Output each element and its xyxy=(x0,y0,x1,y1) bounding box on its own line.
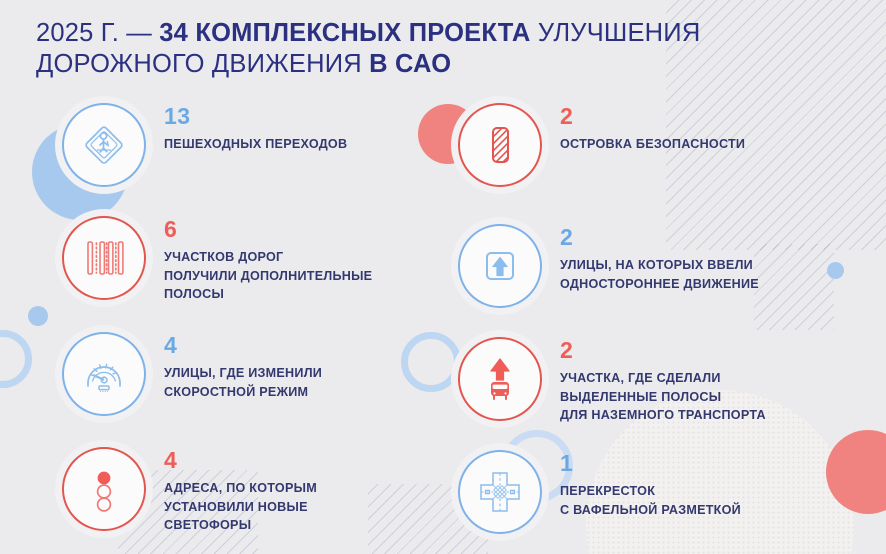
stat-item-safety-islands: 2 ОСТРОВКА БЕЗОПАСНОСТИ xyxy=(458,103,745,187)
stat-caption: ПЕШЕХОДНЫХ ПЕРЕХОДОВ xyxy=(164,135,347,154)
stat-caption: УЛИЦЫ, НА КОТОРЫХ ВВЕЛИ ОДНОСТОРОННЕЕ ДВ… xyxy=(560,256,759,293)
icon-badge-waffle-intersection xyxy=(458,450,542,534)
icon-badge-pedestrian-crossing xyxy=(62,103,146,187)
title-line1-suffix: УЛУЧШЕНИЯ xyxy=(531,19,701,47)
stat-text-safety-islands: 2 ОСТРОВКА БЕЗОПАСНОСТИ xyxy=(560,103,745,154)
stat-text-dedicated-bus-lanes: 2 УЧАСТКА, ГДЕ СДЕЛАЛИ ВЫДЕЛЕННЫЕ ПОЛОСЫ… xyxy=(560,337,766,425)
stat-text-waffle-marking-intersection: 1 ПЕРЕКРЕСТОК С ВАФЕЛЬНОЙ РАЗМЕТКОЙ xyxy=(560,450,741,519)
stat-item-speed-limit-changes: 4 УЛИЦЫ, ГДЕ ИЗМЕНИЛИ СКОРОСТНОЙ РЕЖИМ xyxy=(62,332,322,416)
icon-badge-bus-lane xyxy=(458,337,542,421)
stat-number: 13 xyxy=(164,105,347,128)
stat-item-pedestrian-crossings: 13 ПЕШЕХОДНЫХ ПЕРЕХОДОВ xyxy=(62,103,347,187)
pedestrian-crossing-sign-icon xyxy=(78,119,130,171)
stat-item-dedicated-bus-lanes: 2 УЧАСТКА, ГДЕ СДЕЛАЛИ ВЫДЕЛЕННЫЕ ПОЛОСЫ… xyxy=(458,337,766,425)
stat-caption: ОСТРОВКА БЕЗОПАСНОСТИ xyxy=(560,135,745,154)
stat-text-one-way-streets: 2 УЛИЦЫ, НА КОТОРЫХ ВВЕЛИ ОДНОСТОРОННЕЕ … xyxy=(560,224,759,293)
stat-number: 1 xyxy=(560,452,741,475)
stat-text-speed-limit-changes: 4 УЛИЦЫ, ГДЕ ИЗМЕНИЛИ СКОРОСТНОЙ РЕЖИМ xyxy=(164,332,322,401)
speedometer-icon xyxy=(78,348,130,400)
stat-caption: УЛИЦЫ, ГДЕ ИЗМЕНИЛИ СКОРОСТНОЙ РЕЖИМ xyxy=(164,364,322,401)
stat-caption: УЧАСТКОВ ДОРОГ ПОЛУЧИЛИ ДОПОЛНИТЕЛЬНЫЕ П… xyxy=(164,248,372,304)
stat-item-road-sections-extra-lanes: 6 УЧАСТКОВ ДОРОГ ПОЛУЧИЛИ ДОПОЛНИТЕЛЬНЫЕ… xyxy=(62,216,372,304)
icon-badge-safety-island xyxy=(458,103,542,187)
stat-item-waffle-marking-intersection: 1 ПЕРЕКРЕСТОК С ВАФЕЛЬНОЙ РАЗМЕТКОЙ xyxy=(458,450,741,534)
stat-number: 2 xyxy=(560,105,745,128)
page-title: 2025 Г. — 34 КОМПЛЕКСНЫХ ПРОЕКТА УЛУЧШЕН… xyxy=(36,18,756,80)
stat-number: 4 xyxy=(164,449,317,472)
waffle-intersection-icon xyxy=(474,466,526,518)
diagonal-stripes-mid-right xyxy=(754,244,834,330)
stat-text-road-sections-extra-lanes: 6 УЧАСТКОВ ДОРОГ ПОЛУЧИЛИ ДОПОЛНИТЕЛЬНЫЕ… xyxy=(164,216,372,304)
stat-caption: ПЕРЕКРЕСТОК С ВАФЕЛЬНОЙ РАЗМЕТКОЙ xyxy=(560,482,741,519)
title-line1-strong: 34 КОМПЛЕКСНЫХ ПРОЕКТА xyxy=(159,19,530,47)
icon-badge-one-way xyxy=(458,224,542,308)
title-line1-prefix: 2025 Г. — xyxy=(36,19,159,47)
road-lanes-icon xyxy=(78,232,130,284)
blue-dot-decor-left xyxy=(28,306,48,326)
stat-caption: УЧАСТКА, ГДЕ СДЕЛАЛИ ВЫДЕЛЕННЫЕ ПОЛОСЫ Д… xyxy=(560,369,766,425)
one-way-arrow-sign-icon xyxy=(474,240,526,292)
icon-badge-speedometer xyxy=(62,332,146,416)
stat-number: 2 xyxy=(560,226,759,249)
stat-number: 4 xyxy=(164,334,322,357)
title-line2-strong: В САО xyxy=(369,50,451,78)
stat-text-pedestrian-crossings: 13 ПЕШЕХОДНЫХ ПЕРЕХОДОВ xyxy=(164,103,347,154)
blue-ring-decor-mid xyxy=(401,332,461,392)
icon-badge-traffic-light xyxy=(62,447,146,531)
title-line2-prefix: ДОРОЖНОГО ДВИЖЕНИЯ xyxy=(36,50,369,78)
bus-lane-icon xyxy=(474,353,526,405)
traffic-light-icon xyxy=(78,463,130,515)
stat-item-one-way-streets: 2 УЛИЦЫ, НА КОТОРЫХ ВВЕЛИ ОДНОСТОРОННЕЕ … xyxy=(458,224,759,308)
stat-caption: АДРЕСА, ПО КОТОРЫМ УСТАНОВИЛИ НОВЫЕ СВЕТ… xyxy=(164,479,317,535)
stat-number: 6 xyxy=(164,218,372,241)
stat-item-new-traffic-lights: 4 АДРЕСА, ПО КОТОРЫМ УСТАНОВИЛИ НОВЫЕ СВ… xyxy=(62,447,317,535)
infographic-canvas: 2025 Г. — 34 КОМПЛЕКСНЫХ ПРОЕКТА УЛУЧШЕН… xyxy=(0,0,886,554)
safety-island-icon xyxy=(474,119,526,171)
stat-number: 2 xyxy=(560,339,766,362)
blue-arc-decor-left-bottom xyxy=(0,330,32,388)
icon-badge-road-lanes xyxy=(62,216,146,300)
stat-text-new-traffic-lights: 4 АДРЕСА, ПО КОТОРЫМ УСТАНОВИЛИ НОВЫЕ СВ… xyxy=(164,447,317,535)
